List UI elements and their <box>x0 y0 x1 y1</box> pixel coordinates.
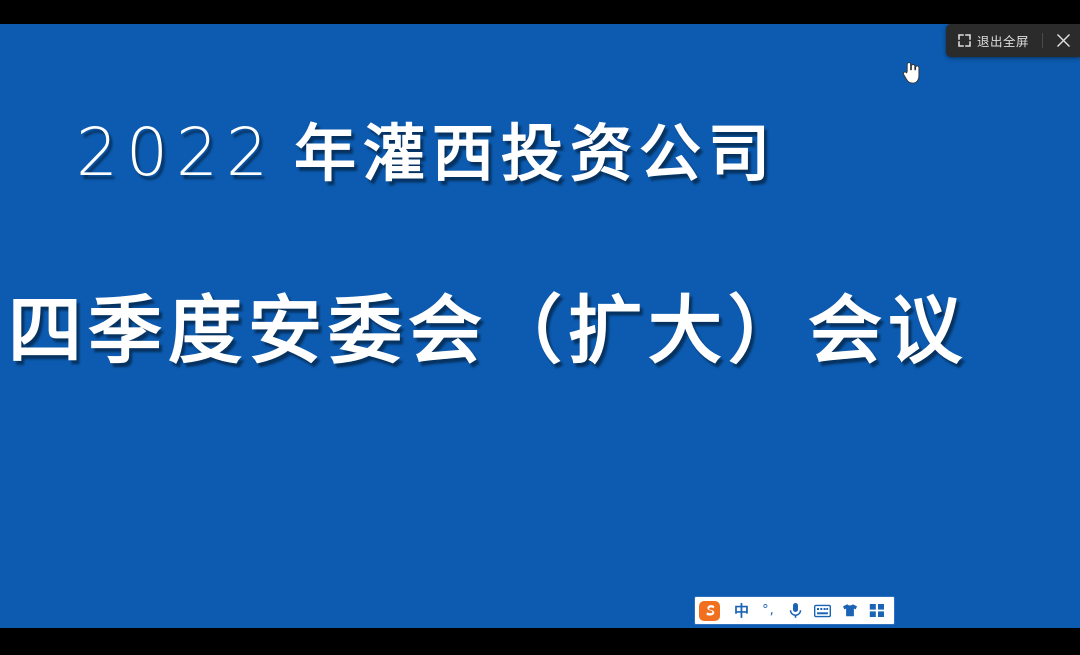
fullscreen-exit-icon <box>958 34 971 47</box>
letterbox-bottom-bar <box>0 628 1080 655</box>
sogou-ime-toolbar[interactable]: 中 °, <box>694 596 895 625</box>
ime-soft-keyboard[interactable] <box>809 598 836 623</box>
ime-toolbox[interactable] <box>863 598 890 623</box>
ime-punctuation-label: °, <box>762 603 775 618</box>
slide-title-line-1-text: 年灌西投资公司 <box>294 117 777 190</box>
slide-canvas[interactable]: 2022年灌西投资公司 四季度安委会（扩大）会议 中 °, <box>0 24 1080 628</box>
slide-title-line-2: 四季度安委会（扩大）会议 <box>8 294 968 368</box>
slide-title-line-1: 2022年灌西投资公司 <box>76 120 777 186</box>
ime-mode-chinese[interactable]: 中 <box>728 598 755 623</box>
microphone-icon <box>788 602 803 619</box>
ime-punctuation[interactable]: °, <box>755 598 782 623</box>
fullscreen-control-bar[interactable]: 退出全屏 <box>946 24 1080 57</box>
sogou-logo-icon[interactable] <box>696 598 724 623</box>
exit-fullscreen-button[interactable]: 退出全屏 <box>956 27 1037 54</box>
ime-voice-input[interactable] <box>782 598 809 623</box>
presentation-fullscreen-screen: 2022年灌西投资公司 四季度安委会（扩大）会议 中 °, <box>0 0 1080 655</box>
letterbox-top-bar <box>0 0 1080 24</box>
keyboard-icon <box>814 604 831 618</box>
close-icon <box>1056 33 1071 48</box>
ime-mode-label: 中 <box>734 600 749 621</box>
ime-skin[interactable] <box>836 598 863 623</box>
toolbox-grid-icon <box>869 603 885 618</box>
tshirt-skin-icon <box>842 603 858 618</box>
toolbar-divider <box>1042 33 1043 48</box>
close-button[interactable] <box>1048 26 1078 56</box>
exit-fullscreen-label: 退出全屏 <box>977 31 1029 50</box>
slide-title-year: 2022 <box>76 114 294 191</box>
